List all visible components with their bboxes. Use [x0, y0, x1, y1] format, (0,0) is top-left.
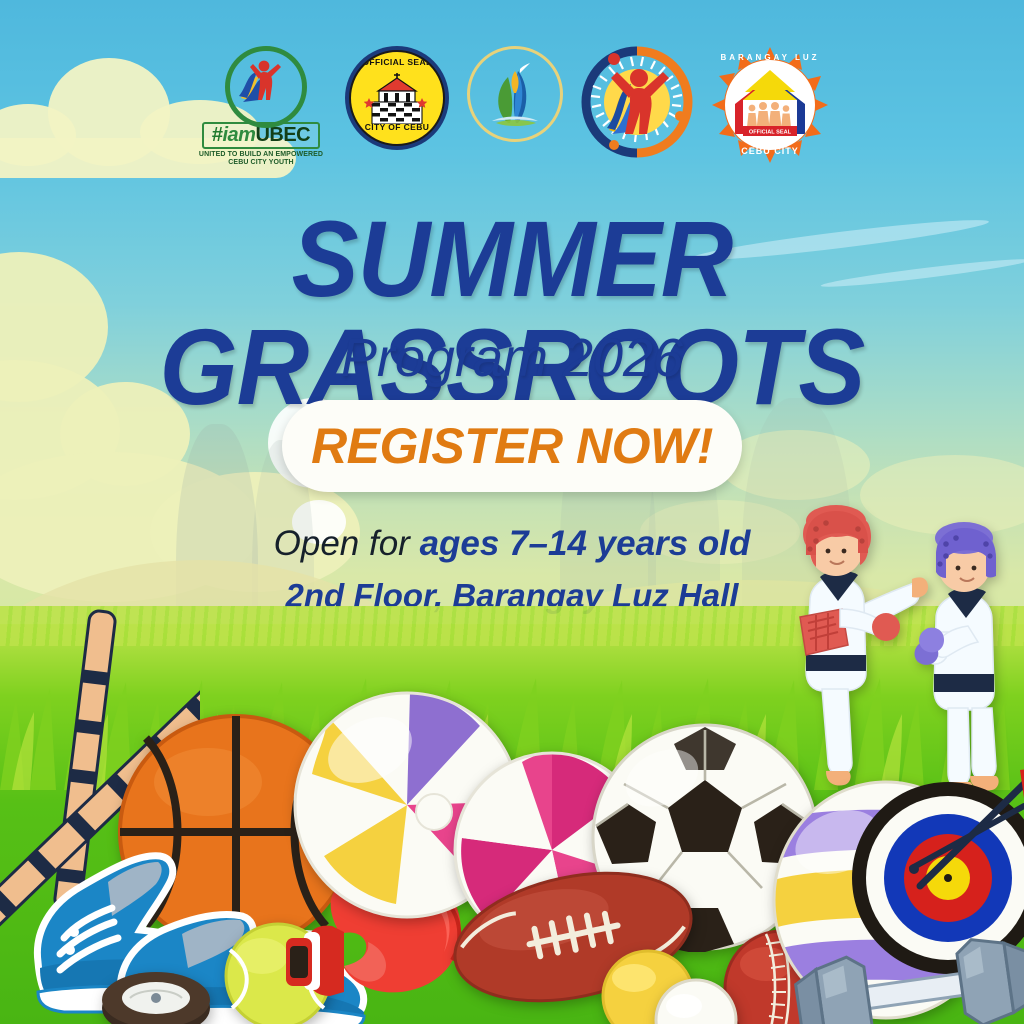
age-prefix: Open for — [274, 524, 420, 563]
dumbbell — [790, 938, 1024, 1024]
ubec-logo: #iamUBEC UNITED TO BUILD AN EMPOWERED CE… — [195, 46, 327, 167]
ubec-tagline: UNITED TO BUILD AN EMPOWERED CEBU CITY Y… — [195, 151, 327, 167]
luz-house-family-icon: OFFICIAL SEAL — [725, 60, 815, 150]
svg-text:OFFICIAL SEAL: OFFICIAL SEAL — [749, 130, 792, 136]
sk-emblem-icon — [581, 46, 693, 158]
cebu-seal-top-text: OFFICIAL SEAL — [351, 57, 443, 67]
age-value: ages 7–14 years old — [420, 524, 751, 563]
poster-canvas: #iamUBEC UNITED TO BUILD AN EMPOWERED CE… — [0, 0, 1024, 1024]
cebu-castle-icon — [364, 72, 430, 124]
flame-circle-logo — [467, 46, 563, 142]
hockey-puck — [96, 956, 216, 1024]
ubec-tagline-line2: CEBU CITY YOUTH — [195, 159, 327, 167]
golf-ball — [654, 978, 738, 1024]
ubec-tagline-line1: UNITED TO BUILD AN EMPOWERED — [195, 151, 327, 159]
cebu-city-seal: OFFICIAL SEAL CITY OF CEBU — [345, 46, 449, 150]
luz-seal-city-text: CEBU CITY — [711, 146, 829, 156]
ubec-figure-icon — [233, 56, 289, 112]
logo-row: #iamUBEC UNITED TO BUILD AN EMPOWERED CE… — [0, 46, 1024, 167]
register-now-button[interactable]: REGISTER NOW! — [282, 400, 742, 492]
luz-seal-inner: OFFICIAL SEAL — [725, 60, 815, 150]
arrow — [856, 790, 1024, 940]
register-now-label: REGISTER NOW! — [311, 417, 713, 475]
flame-leaf-icon — [478, 57, 552, 131]
sk-logo — [581, 46, 693, 158]
poster-subtitle: Program 2026 — [0, 327, 1024, 389]
taekwondo-athlete-purple — [906, 520, 1024, 800]
barangay-luz-seal: BARANGAY LUZ — [711, 46, 829, 164]
